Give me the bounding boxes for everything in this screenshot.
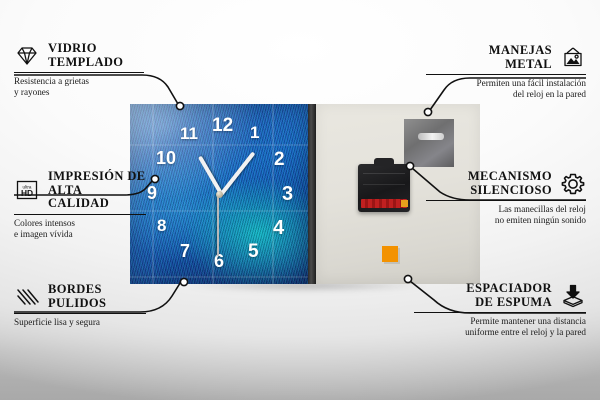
callout-desc-line: uniforme entre el reloj y la pared <box>414 327 586 338</box>
metal-hanger-plate <box>404 119 454 167</box>
clock-numeral-8: 8 <box>157 217 166 234</box>
clock-numeral-5: 5 <box>248 242 259 261</box>
clock-face: 12 1 2 3 4 5 6 7 8 9 10 11 <box>130 104 308 284</box>
callout-metal-hangers: MANEJAS METAL Permiten una fácil instala… <box>426 44 586 100</box>
clock-numeral-2: 2 <box>274 150 285 169</box>
clock-center-cap <box>216 191 223 198</box>
svg-text:HD: HD <box>21 188 33 198</box>
callout-desc-line: Colores intensos <box>14 218 146 229</box>
callout-desc-line: del reloj en la pared <box>426 89 586 100</box>
callout-desc-line: Permite mantener una distancia <box>414 316 586 327</box>
mechanism-tab <box>374 158 394 166</box>
callout-divider <box>414 312 586 313</box>
clock-numeral-1: 1 <box>250 124 259 141</box>
callout-header: ESPACIADOR DE ESPUMA <box>414 282 586 309</box>
callout-divider <box>14 72 144 73</box>
callout-desc-line: Resistencia a grietas <box>14 76 144 87</box>
callout-desc-line: Las manecillas del reloj <box>426 204 586 215</box>
callout-tempered-glass: VIDRIO TEMPLADO Resistencia a grietas y … <box>14 42 144 98</box>
callout-silent-mechanism: MECANISMO SILENCIOSO Las manecillas del … <box>426 170 586 226</box>
callout-polished-edges: BORDES PULIDOS Superficie lisa y segura <box>14 283 146 328</box>
clock-numeral-7: 7 <box>180 242 190 260</box>
foam-spacer-square <box>382 246 398 262</box>
hanging-picture-icon <box>560 45 586 71</box>
clock-numeral-6: 6 <box>214 252 224 270</box>
callout-desc-line: no emiten ningún sonido <box>426 215 586 226</box>
callout-header: BORDES PULIDOS <box>14 283 146 310</box>
callout-title: ESPACIADOR DE ESPUMA <box>466 282 552 309</box>
gear-icon <box>560 171 586 197</box>
callout-divider <box>426 200 586 201</box>
callout-header: MANEJAS METAL <box>426 44 586 71</box>
callout-desc-line: e imagen vívida <box>14 229 146 240</box>
clock-numeral-3: 3 <box>282 184 293 204</box>
callout-desc-line: Superficie lisa y segura <box>14 317 146 328</box>
callout-title: BORDES PULIDOS <box>48 283 106 310</box>
mechanism-detail-line <box>363 184 405 185</box>
clock-mechanism-box <box>358 164 410 212</box>
callout-title: MECANISMO SILENCIOSO <box>468 170 552 197</box>
infographic-canvas: 12 1 2 3 4 5 6 7 8 9 10 11 <box>0 0 600 400</box>
callout-divider <box>14 313 146 314</box>
callout-hd-print: ultra HD IMPRESIÓN DE ALTA CALIDAD Color… <box>14 170 146 240</box>
callout-title: IMPRESIÓN DE ALTA CALIDAD <box>48 170 146 211</box>
callout-header: ultra HD IMPRESIÓN DE ALTA CALIDAD <box>14 170 146 211</box>
clock-numeral-12: 12 <box>212 116 233 135</box>
callout-title: MANEJAS METAL <box>489 44 552 71</box>
clock-numeral-10: 10 <box>156 149 176 167</box>
callout-header: MECANISMO SILENCIOSO <box>426 170 586 197</box>
callout-divider <box>14 214 146 215</box>
mechanism-detail-line <box>363 173 405 174</box>
ultra-hd-badge-icon: ultra HD <box>14 177 40 203</box>
clock-side-edge <box>308 104 316 284</box>
callout-divider <box>426 74 586 75</box>
diamond-icon <box>14 43 40 69</box>
diagonal-lines-icon <box>14 284 40 310</box>
callout-header: VIDRIO TEMPLADO <box>14 42 144 69</box>
clock-numeral-11: 11 <box>180 125 198 142</box>
mechanism-band-end <box>401 200 408 207</box>
clock-numeral-9: 9 <box>147 184 157 202</box>
callout-title: VIDRIO TEMPLADO <box>48 42 123 69</box>
callout-desc-line: y rayones <box>14 87 144 98</box>
clock-second-hand <box>217 194 219 256</box>
callout-desc-line: Permiten una fácil instalación <box>426 78 586 89</box>
arrow-down-pad-icon <box>560 283 586 309</box>
callout-foam-spacer: ESPACIADOR DE ESPUMA Permite mantener un… <box>414 282 586 338</box>
clock-numeral-4: 4 <box>273 218 284 238</box>
hanger-slot <box>418 133 444 140</box>
